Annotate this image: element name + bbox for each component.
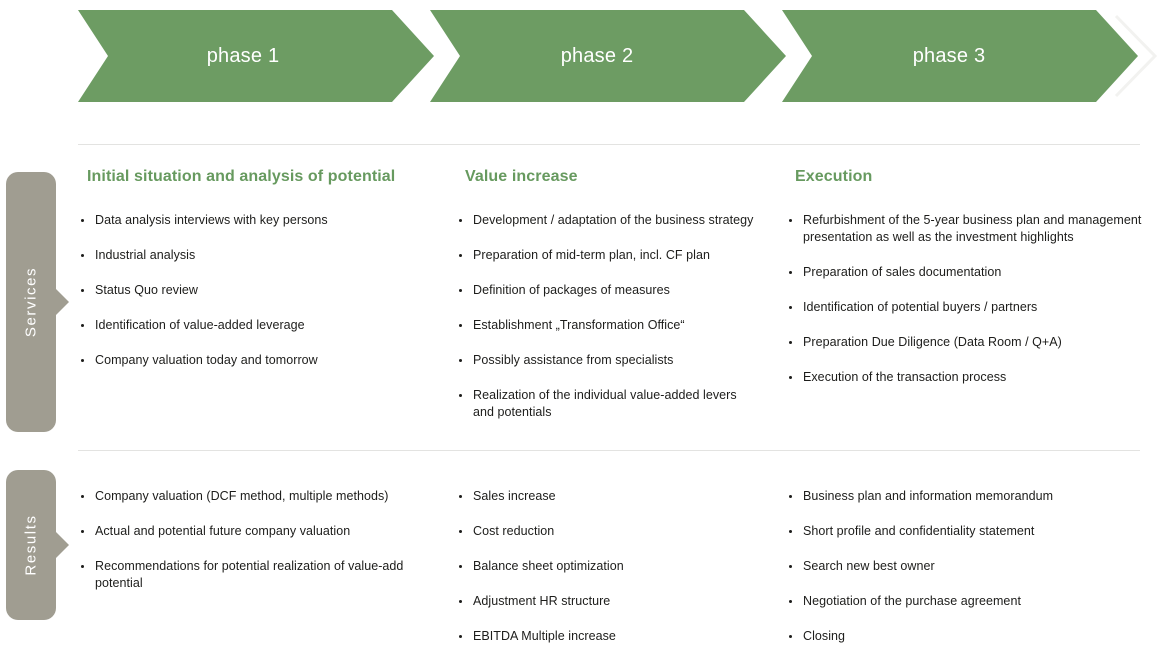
list-item: Preparation of mid-term plan, incl. CF p… (456, 247, 758, 264)
list-item: Company valuation today and tomorrow (78, 352, 428, 369)
list-item: Identification of value-added leverage (78, 317, 428, 334)
list-item: Realization of the individual value-adde… (456, 387, 758, 421)
services-section: Initial situation and analysis of potent… (78, 168, 1148, 421)
services-column-phase-3: Execution Refurbishment of the 5-year bu… (786, 168, 1148, 421)
results-column-phase-2: Sales increaseCost reductionBalance shee… (456, 488, 786, 645)
side-tab-results-pointer-icon (56, 532, 69, 558)
list-item: Company valuation (DCF method, multiple … (78, 488, 428, 505)
services-list-phase-3: Refurbishment of the 5-year business pla… (786, 212, 1148, 386)
list-item: Data analysis interviews with key person… (78, 212, 428, 229)
list-item: Refurbishment of the 5-year business pla… (786, 212, 1148, 246)
list-item: Status Quo review (78, 282, 428, 299)
phase-3-arrow-shape[interactable] (782, 10, 1138, 102)
services-list-phase-1: Data analysis interviews with key person… (78, 212, 428, 369)
services-list-phase-2: Development / adaptation of the business… (456, 212, 758, 421)
results-list-phase-2: Sales increaseCost reductionBalance shee… (456, 488, 758, 645)
side-tab-results-label: Results (23, 514, 40, 575)
list-item: Definition of packages of measures (456, 282, 758, 299)
side-tab-services[interactable]: Services (6, 172, 56, 432)
list-item: Identification of potential buyers / par… (786, 299, 1148, 316)
divider-middle (78, 450, 1140, 451)
list-item: Closing (786, 628, 1148, 645)
phase-2-arrow-shape[interactable] (430, 10, 786, 102)
list-item: Execution of the transaction process (786, 369, 1148, 386)
side-tab-services-pointer-icon (56, 289, 69, 315)
results-list-phase-3: Business plan and information memorandum… (786, 488, 1148, 645)
services-heading-phase-1: Initial situation and analysis of potent… (87, 168, 428, 186)
results-column-phase-3: Business plan and information memorandum… (786, 488, 1148, 645)
list-item: Industrial analysis (78, 247, 428, 264)
list-item: Preparation of sales documentation (786, 264, 1148, 281)
list-item: Sales increase (456, 488, 758, 505)
list-item: Possibly assistance from specialists (456, 352, 758, 369)
list-item: Development / adaptation of the business… (456, 212, 758, 229)
results-column-phase-1: Company valuation (DCF method, multiple … (78, 488, 456, 645)
side-tab-services-label: Services (23, 267, 40, 337)
side-tab-results[interactable]: Results (6, 470, 56, 620)
results-list-phase-1: Company valuation (DCF method, multiple … (78, 488, 428, 592)
list-item: Preparation Due Diligence (Data Room / Q… (786, 334, 1148, 351)
list-item: Balance sheet optimization (456, 558, 758, 575)
list-item: Cost reduction (456, 523, 758, 540)
list-item: Establishment „Transformation Office“ (456, 317, 758, 334)
list-item: EBITDA Multiple increase (456, 628, 758, 645)
list-item: Recommendations for potential realizatio… (78, 558, 428, 592)
list-item: Actual and potential future company valu… (78, 523, 428, 540)
list-item: Negotiation of the purchase agreement (786, 593, 1148, 610)
phase-arrows-svg (0, 10, 1160, 102)
divider-top (78, 144, 1140, 145)
services-column-phase-1: Initial situation and analysis of potent… (78, 168, 456, 421)
services-column-phase-2: Value increase Development / adaptation … (456, 168, 786, 421)
phase-banner: phase 1 phase 2 phase 3 (0, 10, 1160, 102)
list-item: Business plan and information memorandum (786, 488, 1148, 505)
process-overview-diagram: phase 1 phase 2 phase 3 Services Results… (0, 0, 1160, 664)
services-heading-phase-2: Value increase (465, 168, 758, 186)
list-item: Short profile and confidentiality statem… (786, 523, 1148, 540)
list-item: Adjustment HR structure (456, 593, 758, 610)
phase-1-arrow-shape[interactable] (78, 10, 434, 102)
list-item: Search new best owner (786, 558, 1148, 575)
results-section: Company valuation (DCF method, multiple … (78, 488, 1148, 645)
services-heading-phase-3: Execution (795, 168, 1148, 186)
